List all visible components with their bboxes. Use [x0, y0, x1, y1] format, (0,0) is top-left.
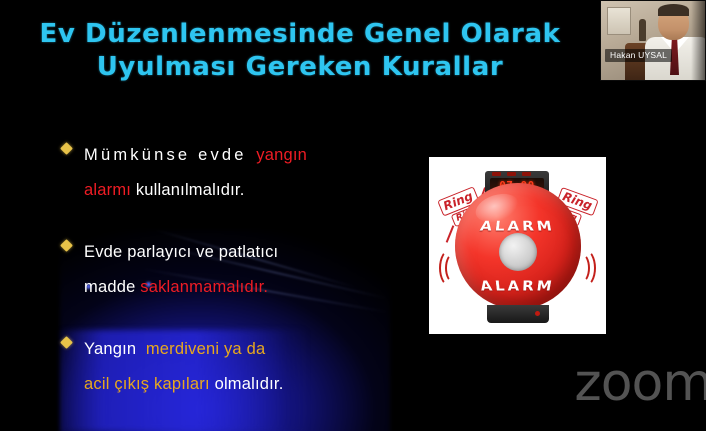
bullet-1-line2-plain: kullanılmalıdır.	[136, 181, 245, 199]
bullet-3-line1-plain: Yangın	[84, 340, 136, 358]
bullet-text: Evde parlayıcı ve patlatıcı madde saklan…	[84, 235, 414, 306]
video-window-decor	[607, 7, 631, 35]
alarm-clock-base	[487, 305, 549, 323]
bullet-1-line1-highlight: yangın	[256, 146, 307, 164]
alarm-bell-center-disc	[499, 233, 537, 271]
slide-title: Ev Düzenlenmesinde Genel Olarak Uyulması…	[0, 18, 600, 85]
zoom-screen-share-view: Ev Düzenlenmesinde Genel Olarak Uyulması…	[0, 0, 706, 431]
alarm-clock-image: Ring Ring Ring Ring 07:00 ALARM ALARM	[429, 157, 606, 334]
bullet-2-line1-plain: Evde parlayıcı ve patlatıcı	[84, 243, 278, 261]
bullet-2-line2-highlight: saklanmamalıdır.	[140, 278, 268, 296]
video-person-hair	[658, 4, 689, 16]
bullet-item: Mümkünse evde yangın alarmı kullanılmalı…	[84, 138, 414, 209]
bullet-3-line2-plain: olmalıdır.	[215, 375, 284, 393]
participant-name-badge: Hakan UYSAL	[605, 49, 672, 62]
bullet-item: Evde parlayıcı ve patlatıcı madde saklan…	[84, 235, 414, 306]
participant-video-tile[interactable]: Hakan UYSAL	[600, 0, 706, 81]
bullet-3-line1-highlight: merdiveni ya da	[146, 340, 265, 358]
alarm-button	[507, 172, 516, 176]
video-statue-decor	[639, 19, 646, 41]
alarm-indicator-led	[535, 311, 540, 316]
slide-title-line-1: Ev Düzenlenmesinde Genel Olarak	[39, 19, 560, 49]
bullet-3-line2-highlight: acil çıkış kapıları	[84, 375, 210, 393]
alarm-button	[492, 172, 501, 176]
bullet-text: Yangın merdiveni ya da acil çıkış kapıla…	[84, 332, 414, 403]
video-vignette-decor	[691, 1, 705, 81]
slide-bullet-list: Mümkünse evde yangın alarmı kullanılmalı…	[84, 138, 414, 429]
bullet-text: Mümkünse evde yangın alarmı kullanılmalı…	[84, 138, 414, 209]
bullet-1-line2-highlight: alarmı	[84, 181, 131, 199]
alarm-button	[522, 172, 531, 176]
zoom-watermark: zoom	[574, 353, 706, 413]
bullet-2-line2-plain: madde	[84, 278, 135, 296]
alarm-word-bottom: ALARM	[429, 278, 606, 294]
slide-title-line-2: Uyulması Gereken Kurallar	[0, 51, 600, 84]
alarm-illustration: Ring Ring Ring Ring 07:00 ALARM ALARM	[429, 157, 606, 334]
bullet-1-line1-plain: Mümkünse evde	[84, 146, 247, 164]
bullet-item: Yangın merdiveni ya da acil çıkış kapıla…	[84, 332, 414, 403]
